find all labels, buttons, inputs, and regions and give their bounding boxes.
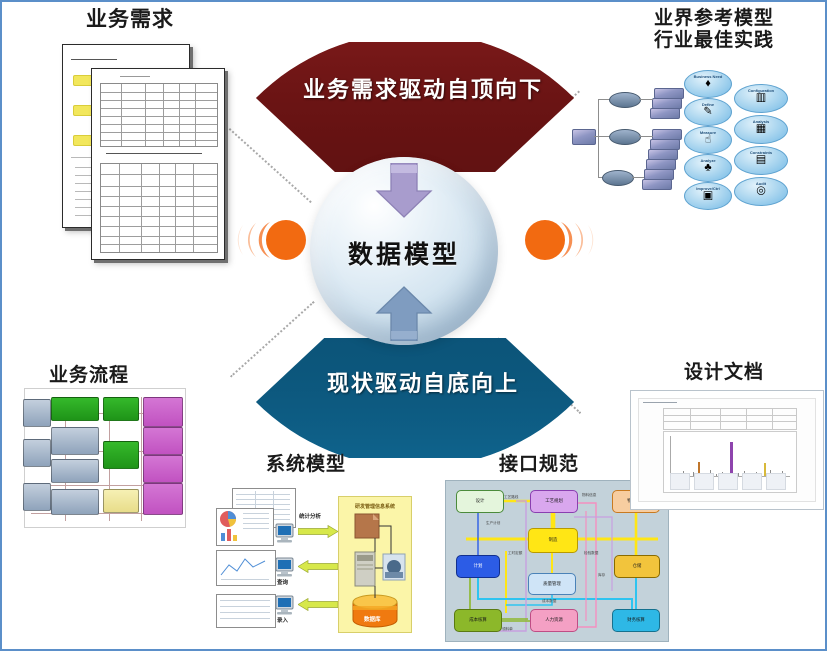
bp-box-output xyxy=(143,483,183,515)
interface-node: 设计 xyxy=(456,490,504,513)
caption-reference-model-line1: 业界参考模型 xyxy=(654,8,774,30)
ref-ellipse-left: Improve/Ctrl ▣ xyxy=(684,182,732,210)
caption-design-document: 设计文档 xyxy=(684,362,764,384)
tree-hub-1 xyxy=(609,92,641,108)
bp-box-process xyxy=(103,441,139,469)
ref-ellipse-icon: ♦ xyxy=(705,78,711,89)
ref-ellipse-left: Analyze ♣ xyxy=(684,154,732,182)
tree-leaf xyxy=(642,179,672,190)
ref-ellipse-icon: ▤ xyxy=(756,155,766,166)
system-box-title: 研发管理信息系统 xyxy=(339,503,411,510)
ref-ellipse-icon: ✎ xyxy=(703,106,712,117)
design-document-page xyxy=(638,398,816,502)
business-requirements-docs xyxy=(62,44,227,259)
flow-arrow-icon xyxy=(298,525,338,538)
chart-legend-cell xyxy=(694,473,714,490)
bp-box-decision xyxy=(103,489,139,513)
caption-business-requirements: 业务需求 xyxy=(86,8,174,33)
ripple-left-shape xyxy=(230,214,308,266)
bp-box-output xyxy=(143,397,183,427)
design-document-graphic xyxy=(630,390,824,510)
chart-legend-cell xyxy=(742,473,762,490)
fan-top-down: 业务需求驱动自顶向下 xyxy=(250,42,580,172)
ref-ellipse-right: Audit ◎ xyxy=(734,177,788,206)
caption-reference-model: 业界参考模型 行业最佳实践 xyxy=(654,8,774,53)
ref-ellipse-icon: ▥ xyxy=(756,93,766,104)
screen-report xyxy=(216,508,274,546)
fan-top-label: 业务需求驱动自顶向下 xyxy=(303,72,543,104)
interface-wire-label: 成本数据 xyxy=(542,599,556,604)
tree-link-leaf3 xyxy=(632,177,644,178)
tree-link-leaf2 xyxy=(639,136,653,137)
system-box-internals xyxy=(339,510,411,632)
bp-box-input xyxy=(23,483,51,511)
ref-ellipse-left: Define ✎ xyxy=(684,98,732,126)
reference-model-graphic: Business Need ♦ Define ✎ Measure ☝ Analy… xyxy=(572,72,822,217)
interface-wire-label: 工艺路线 xyxy=(504,495,518,500)
interface-wire-label: 工时定额 xyxy=(508,551,522,556)
fan-bottom-label: 现状驱动自底向上 xyxy=(327,366,519,398)
ref-ellipse-icon: ◎ xyxy=(756,186,766,197)
interface-node: 仓储 xyxy=(614,555,660,578)
design-doc-chart xyxy=(663,431,797,493)
interface-wire-label: 领料单 xyxy=(502,627,513,632)
caption-business-process: 业务流程 xyxy=(49,365,129,387)
bp-box-output xyxy=(143,455,183,483)
screen-trend-chart xyxy=(217,551,273,583)
interface-node: 工艺规划 xyxy=(530,490,578,513)
interface-node: 成本核算 xyxy=(454,609,502,632)
system-model-graphic: 统计分析 查询 xyxy=(210,484,415,639)
interface-node: 制造 xyxy=(528,528,578,553)
center-sphere: 数据模型 xyxy=(310,157,498,345)
screen-table xyxy=(216,594,276,628)
interface-wire-label: 物料信息 xyxy=(582,493,596,498)
document-page-front xyxy=(91,68,225,260)
business-process-graphic xyxy=(24,388,186,528)
interface-node: 财务核算 xyxy=(612,609,660,632)
interface-node: 质量管理 xyxy=(528,573,576,595)
bp-box-input xyxy=(51,427,99,455)
interface-node-label: 人力资源 xyxy=(545,618,563,622)
interface-wire-label: 库存 xyxy=(598,573,605,578)
interface-wire-label: 检验数据 xyxy=(584,551,598,556)
arrow-up-icon xyxy=(373,285,435,341)
ref-ellipse-icon: ♣ xyxy=(704,162,711,173)
computer-icon-shape xyxy=(274,556,296,578)
screen-report-chart xyxy=(217,509,271,543)
tree-root-node xyxy=(572,129,596,145)
ref-ellipse-left: Business Need ♦ xyxy=(684,70,732,98)
chart-legend-cell xyxy=(670,473,690,490)
bp-box-input xyxy=(23,439,51,467)
system-box: 研发管理信息系统 xyxy=(338,496,412,633)
ripple-right-shape xyxy=(523,214,601,266)
interface-node: 人力资源 xyxy=(530,609,578,632)
chart-legend-cell xyxy=(766,473,786,490)
system-model-flow-label: 统计分析 xyxy=(299,512,321,520)
ref-ellipse-icon: ☝ xyxy=(705,134,712,145)
chart-spike-purple xyxy=(730,442,733,476)
ref-ellipse-right: Analysis ▦ xyxy=(734,115,788,144)
system-model-flow-label: 查询 xyxy=(277,578,288,586)
design-doc-table xyxy=(663,408,797,430)
screen-trend xyxy=(216,550,276,586)
interface-wire-label: 生产计划 xyxy=(486,521,500,526)
tree-hub-2 xyxy=(609,129,641,145)
bp-box-input xyxy=(51,489,99,515)
bp-box-process xyxy=(103,397,139,421)
interface-node: 计划 xyxy=(456,555,500,578)
tree-link-leaf1 xyxy=(639,99,653,100)
interface-node-label: 财务核算 xyxy=(627,618,645,622)
interface-node-label: 成本核算 xyxy=(469,618,487,622)
ref-ellipse-right: Constraints ▤ xyxy=(734,146,788,175)
chart-legend-cell xyxy=(718,473,738,490)
tree-link-v xyxy=(598,99,599,177)
computer-icon-shape xyxy=(274,594,296,616)
computer-icon xyxy=(274,594,296,616)
ref-ellipse-left: Measure ☝ xyxy=(684,126,732,154)
flow-arrow-icon xyxy=(298,560,338,573)
connector-ripple-right xyxy=(523,214,601,266)
bp-box-input xyxy=(51,459,99,483)
doc-table-top xyxy=(100,83,218,147)
bp-box-process xyxy=(51,397,99,421)
center-label: 数据模型 xyxy=(310,235,498,271)
fan-top-shape xyxy=(250,42,580,172)
flow-arrow-icon xyxy=(298,598,338,611)
bp-box-output xyxy=(143,427,183,455)
interface-node-label: 制造 xyxy=(549,538,558,542)
interface-node-label: 工艺规划 xyxy=(545,499,563,503)
computer-icon xyxy=(274,522,296,544)
interface-node-label: 设计 xyxy=(476,499,485,503)
diagram-canvas: 业务需求驱动自顶向下 现状驱动自底向上 数据模型 xyxy=(0,0,827,651)
computer-icon-shape xyxy=(274,522,296,544)
bp-connector xyxy=(141,397,142,521)
caption-reference-model-line2: 行业最佳实践 xyxy=(654,30,774,52)
tree-leaf xyxy=(650,108,680,119)
ref-ellipse-icon: ▦ xyxy=(756,124,766,135)
tree-hub-3 xyxy=(602,170,634,186)
bp-box-input xyxy=(23,399,51,427)
system-model-flow-label: 录入 xyxy=(277,616,288,624)
arrow-down-icon xyxy=(373,163,435,219)
fan-bottom-up: 现状驱动自底向上 xyxy=(250,338,580,458)
doc-table-bottom xyxy=(100,163,218,253)
fan-bottom-shape xyxy=(250,338,580,458)
ref-ellipse-icon: ▣ xyxy=(703,190,713,201)
interface-node-label: 质量管理 xyxy=(543,582,561,586)
computer-icon xyxy=(274,556,296,578)
interface-node-label: 计划 xyxy=(474,564,483,568)
ref-ellipse-right: Configuration ▥ xyxy=(734,84,788,113)
system-db-label: 数据库 xyxy=(364,615,381,623)
caption-system-model: 系统模型 xyxy=(266,454,346,476)
connector-ripple-left xyxy=(230,214,308,266)
interface-node-label: 仓储 xyxy=(633,564,642,568)
caption-interface-spec: 接口规范 xyxy=(499,454,579,476)
